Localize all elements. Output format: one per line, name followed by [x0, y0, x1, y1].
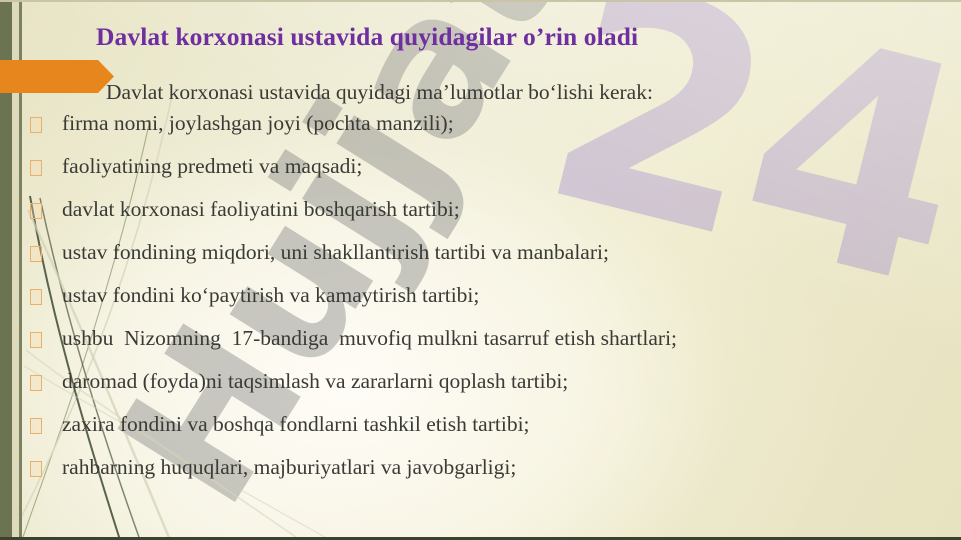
list-item-label: firma nomi, joylashgan joyi (pochta manz… [62, 110, 940, 137]
list-item: ustav fondining miqdori, uni shakllantir… [30, 239, 940, 282]
bullet-square-icon [30, 203, 42, 219]
list-item: firma nomi, joylashgan joyi (pochta manz… [30, 110, 940, 153]
bullet-square-icon [30, 246, 42, 262]
bullet-square-icon [30, 375, 42, 391]
top-frame-line [0, 0, 961, 2]
list-item-label: ustav fondining miqdori, uni shakllantir… [62, 239, 940, 266]
bullet-square-icon [30, 160, 42, 176]
list-item-label: davlat korxonasi faoliyatini boshqarish … [62, 196, 940, 223]
list-item: ustav fondini ko‘paytirish va kamaytiris… [30, 282, 940, 325]
list-item-label: rahbarning huquqlari, majburiyatlari va … [62, 454, 940, 481]
list-item: ushbu Nizomning 17-bandiga muvofiq mulkn… [30, 325, 940, 368]
bullet-square-icon [30, 117, 42, 133]
intro-paragraph: Davlat korxonasi ustavida quyidagi ma’lu… [62, 80, 902, 106]
slide-canvas: 24 Hujjat Davlat korxonasi ustavida quyi… [0, 0, 961, 540]
list-item: faoliyatining predmeti va maqsadi; [30, 153, 940, 196]
list-item: rahbarning huquqlari, majburiyatlari va … [30, 454, 940, 497]
bullet-square-icon [30, 418, 42, 434]
bullet-square-icon [30, 289, 42, 305]
list-item: daromad (foyda)ni taqsimlash va zararlar… [30, 368, 940, 411]
list-item-label: ustav fondini ko‘paytirish va kamaytiris… [62, 282, 940, 309]
bullet-square-icon [30, 332, 42, 348]
page-title: Davlat korxonasi ustavida quyidagilar o’… [96, 22, 896, 51]
list-item-label: faoliyatining predmeti va maqsadi; [62, 153, 940, 180]
list-item-label: ushbu Nizomning 17-bandiga muvofiq mulkn… [62, 325, 940, 352]
bullet-square-icon [30, 461, 42, 477]
list-item: davlat korxonasi faoliyatini boshqarish … [30, 196, 940, 239]
list-item-label: zaxira fondini va boshqa fondlarni tashk… [62, 411, 940, 438]
list-item: zaxira fondini va boshqa fondlarni tashk… [30, 411, 940, 454]
bullet-list: firma nomi, joylashgan joyi (pochta manz… [30, 110, 940, 497]
list-item-label: daromad (foyda)ni taqsimlash va zararlar… [62, 368, 940, 395]
